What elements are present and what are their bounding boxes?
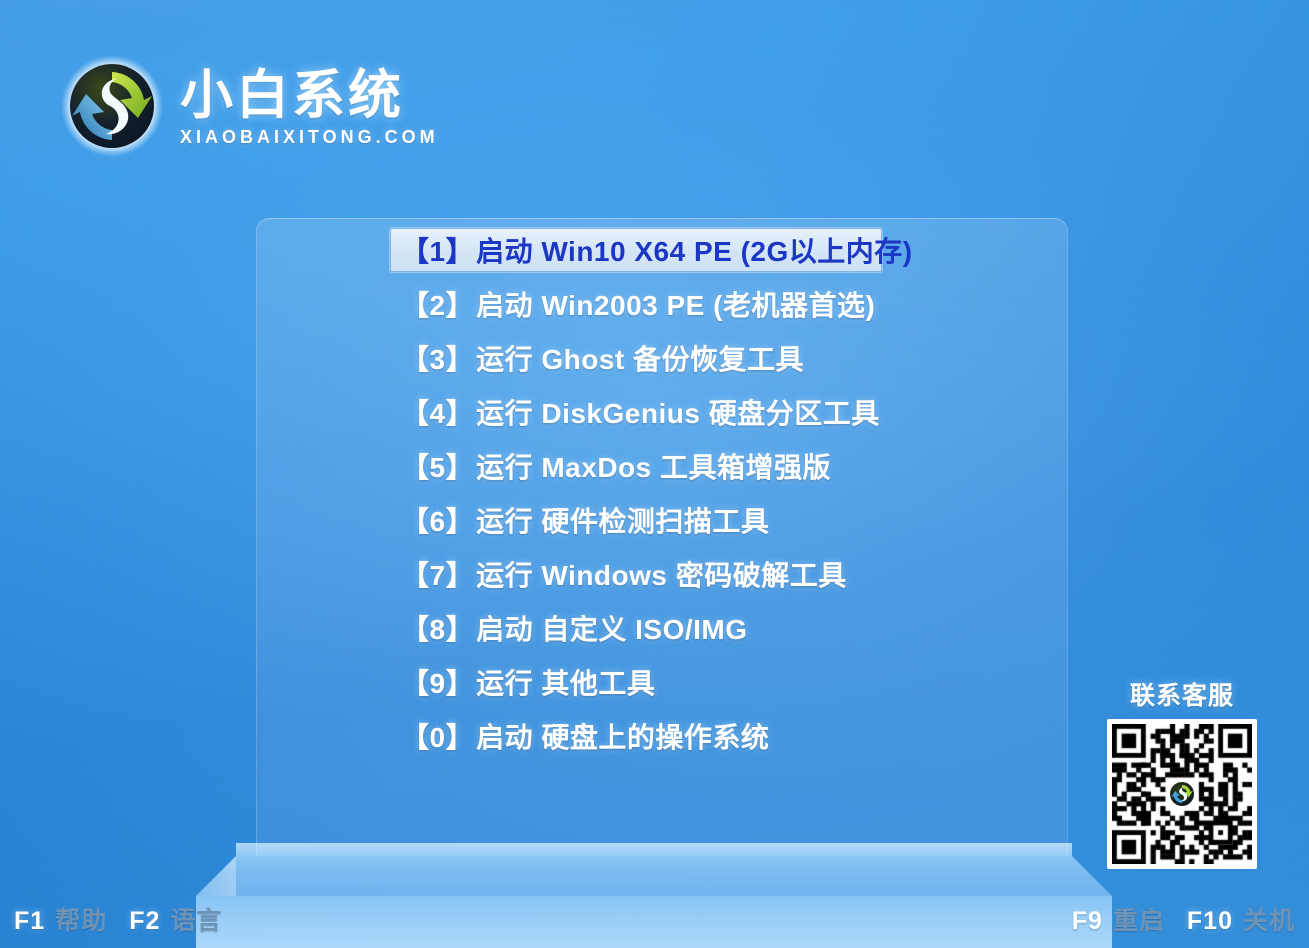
brand-title: 小白系统 <box>180 68 439 124</box>
boot-menu-item-key: 【7】 <box>401 554 474 594</box>
boot-menu-item-6[interactable]: 【6】运行 硬件检测扫描工具 <box>390 498 780 542</box>
qr-code[interactable] <box>1107 719 1257 869</box>
boot-menu-item-2[interactable]: 【2】启动 Win2003 PE (老机器首选) <box>390 282 886 326</box>
boot-menu-item-7[interactable]: 【7】运行 Windows 密码破解工具 <box>390 552 858 596</box>
function-key-f2[interactable]: F2 <box>129 909 160 934</box>
contact-support-block: 联系客服 <box>1101 684 1263 869</box>
boot-menu-item-label: 运行 Windows 密码破解工具 <box>476 554 847 594</box>
function-key-label-f9: 重启 <box>1113 909 1165 934</box>
boot-menu-item-label: 运行 硬件检测扫描工具 <box>476 500 769 540</box>
contact-support-title: 联系客服 <box>1101 684 1263 709</box>
boot-menu-item-key: 【8】 <box>401 608 474 648</box>
boot-menu-item-3[interactable]: 【3】运行 Ghost 备份恢复工具 <box>390 336 815 380</box>
pedestal-left-bevel <box>196 856 238 896</box>
boot-menu-item-8[interactable]: 【8】启动 自定义 ISO/IMG <box>390 606 759 650</box>
brand-logo: 小白系统 XIAOBAIXITONG.COM <box>58 52 439 160</box>
boot-menu-item-key: 【0】 <box>401 716 474 756</box>
boot-menu-item-key: 【3】 <box>401 338 474 378</box>
boot-menu-item-5[interactable]: 【5】运行 MaxDos 工具箱增强版 <box>390 444 842 488</box>
boot-menu-item-label: 运行 DiskGenius 硬盘分区工具 <box>476 392 880 432</box>
function-key-f9[interactable]: F9 <box>1072 909 1103 934</box>
function-keys-left[interactable]: F1帮助F2语言 <box>14 909 222 934</box>
boot-menu-item-1[interactable]: 【1】启动 Win10 X64 PE (2G以上内存) <box>390 228 882 272</box>
boot-menu-screen: 小白系统 XIAOBAIXITONG.COM 【1】启动 Win10 X64 P… <box>0 0 1309 948</box>
recycle-circle-logo-icon <box>58 52 166 160</box>
boot-menu-item-key: 【9】 <box>401 662 474 702</box>
boot-menu-item-9[interactable]: 【9】运行 其他工具 <box>390 660 666 704</box>
pedestal-base <box>196 896 1112 948</box>
function-key-label-f10: 关机 <box>1243 909 1295 934</box>
function-keys-right[interactable]: F9重启F10关机 <box>1072 909 1295 934</box>
boot-menu-item-label: 运行 MaxDos 工具箱增强版 <box>476 446 831 486</box>
boot-menu-item-10[interactable]: 【0】启动 硬盘上的操作系统 <box>390 714 780 758</box>
brand-subtitle: XIAOBAIXITONG.COM <box>180 127 439 148</box>
boot-menu-item-label: 启动 Win10 X64 PE (2G以上内存) <box>476 230 913 270</box>
function-key-f10[interactable]: F10 <box>1187 909 1233 934</box>
boot-menu-item-key: 【4】 <box>401 392 474 432</box>
boot-menu-item-key: 【1】 <box>401 230 474 270</box>
brand-text: 小白系统 XIAOBAIXITONG.COM <box>180 68 439 148</box>
function-key-label-f1: 帮助 <box>55 909 107 934</box>
boot-menu-item-label: 运行 其他工具 <box>476 662 655 702</box>
boot-menu-item-label: 启动 自定义 ISO/IMG <box>476 608 747 648</box>
boot-menu-item-key: 【6】 <box>401 500 474 540</box>
boot-menu-item-key: 【5】 <box>401 446 474 486</box>
boot-menu-item-label: 启动 硬盘上的操作系统 <box>476 716 769 756</box>
function-key-label-f2: 语言 <box>170 909 222 934</box>
boot-menu-item-label: 运行 Ghost 备份恢复工具 <box>476 338 804 378</box>
boot-menu-item-4[interactable]: 【4】运行 DiskGenius 硬盘分区工具 <box>390 390 891 434</box>
boot-menu-item-key: 【2】 <box>401 284 474 324</box>
brand-globe-icon <box>1167 779 1197 809</box>
boot-menu-list[interactable]: 【1】启动 Win10 X64 PE (2G以上内存)【2】启动 Win2003… <box>390 228 990 768</box>
pedestal-front-face <box>196 856 1112 896</box>
function-key-f1[interactable]: F1 <box>14 909 45 934</box>
boot-menu-item-label: 启动 Win2003 PE (老机器首选) <box>476 284 875 324</box>
